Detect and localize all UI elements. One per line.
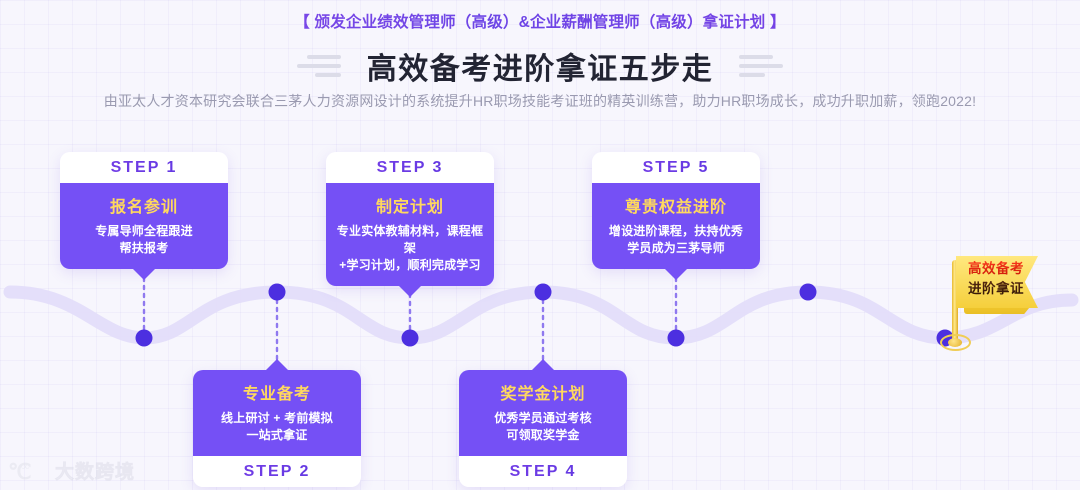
watermark-text: 大数跨境 — [55, 457, 135, 484]
goal-flag-icon: 高效备考 进阶拿证 — [938, 256, 1058, 356]
step-card-3-step-label: STEP 3 — [326, 152, 494, 183]
step-card-4-body: 奖学金计划 优秀学员通过考核 可领取奖学金 — [459, 370, 627, 456]
step-card-4-step-label: STEP 4 — [459, 456, 627, 487]
step-card-1-desc-line2: 帮扶报考 — [68, 240, 220, 257]
promo-banner-text: 【 颁发企业绩效管理师（高级）&企业薪酬管理师（高级）拿证计划 】 — [0, 10, 1080, 32]
watermark-logo-icon: ℃∞ — [8, 459, 48, 483]
step-card-5[interactable]: STEP 5 尊贵权益进阶 增设进阶课程，扶持优秀 学员成为三茅导师 — [592, 152, 760, 269]
step-card-3-title: 制定计划 — [334, 193, 486, 217]
step-card-1-header: STEP 1 — [60, 152, 228, 183]
step-card-3-body: 制定计划 专业实体教辅材料，课程框架 +学习计划，顺利完成学习 — [326, 183, 494, 286]
step-card-2-header: STEP 2 — [193, 456, 361, 487]
step-card-2-step-label: STEP 2 — [193, 456, 361, 487]
step-card-4-title: 奖学金计划 — [467, 380, 619, 404]
step-card-4-desc-line2: 可领取奖学金 — [467, 427, 619, 444]
step-card-5-pointer-icon — [664, 268, 688, 280]
step-card-4[interactable]: 奖学金计划 优秀学员通过考核 可领取奖学金 STEP 4 — [459, 370, 627, 487]
step-card-4-desc-line1: 优秀学员通过考核 — [467, 410, 619, 427]
step-card-4-header: STEP 4 — [459, 456, 627, 487]
step-card-5-body: 尊贵权益进阶 增设进阶课程，扶持优秀 学员成为三茅导师 — [592, 183, 760, 269]
flag-text-line2: 进阶拿证 — [960, 279, 1032, 299]
step-card-3[interactable]: STEP 3 制定计划 专业实体教辅材料，课程框架 +学习计划，顺利完成学习 — [326, 152, 494, 286]
step-card-5-title: 尊贵权益进阶 — [600, 193, 752, 217]
step-card-3-desc-line1: 专业实体教辅材料，课程框架 — [334, 223, 486, 257]
step-card-1[interactable]: STEP 1 报名参训 专属导师全程跟进 帮扶报考 — [60, 152, 228, 269]
flag-text: 高效备考 进阶拿证 — [960, 259, 1032, 299]
page-subtitle: 由亚太人才资本研究会联合三茅人力资源网设计的系统提升HR职场技能考证班的精英训练… — [0, 91, 1080, 111]
step-card-5-step-label: STEP 5 — [592, 152, 760, 183]
watermark: ℃∞ 大数跨境 — [8, 457, 135, 484]
step-card-1-pointer-icon — [132, 268, 156, 280]
page-title: 高效备考进阶拿证五步走 — [367, 44, 714, 88]
step-card-2-desc-line2: 一站式拿证 — [201, 427, 353, 444]
step-card-1-step-label: STEP 1 — [60, 152, 228, 183]
step-card-2-desc-line1: 线上研讨 + 考前模拟 — [201, 410, 353, 427]
step-card-3-header: STEP 3 — [326, 152, 494, 183]
step-card-5-desc-line1: 增设进阶课程，扶持优秀 — [600, 223, 752, 240]
step-card-2-title: 专业备考 — [201, 380, 353, 404]
step-card-2-pointer-icon — [265, 359, 289, 371]
page-title-row: 高效备考进阶拿证五步走 — [0, 44, 1080, 88]
step-card-4-pointer-icon — [531, 359, 555, 371]
step-card-5-desc-line2: 学员成为三茅导师 — [600, 240, 752, 257]
title-decoration-left-icon — [297, 55, 341, 77]
flag-text-line1: 高效备考 — [960, 259, 1032, 279]
step-card-3-pointer-icon — [398, 285, 422, 297]
step-card-1-title: 报名参训 — [68, 193, 220, 217]
step-card-2-body: 专业备考 线上研讨 + 考前模拟 一站式拿证 — [193, 370, 361, 456]
flag-base-dot — [948, 338, 962, 347]
step-card-1-desc-line1: 专属导师全程跟进 — [68, 223, 220, 240]
step-card-5-header: STEP 5 — [592, 152, 760, 183]
step-card-3-desc-line2: +学习计划，顺利完成学习 — [334, 257, 486, 274]
title-decoration-right-icon — [739, 55, 783, 77]
step-card-2[interactable]: 专业备考 线上研讨 + 考前模拟 一站式拿证 STEP 2 — [193, 370, 361, 487]
step-card-1-body: 报名参训 专属导师全程跟进 帮扶报考 — [60, 183, 228, 269]
